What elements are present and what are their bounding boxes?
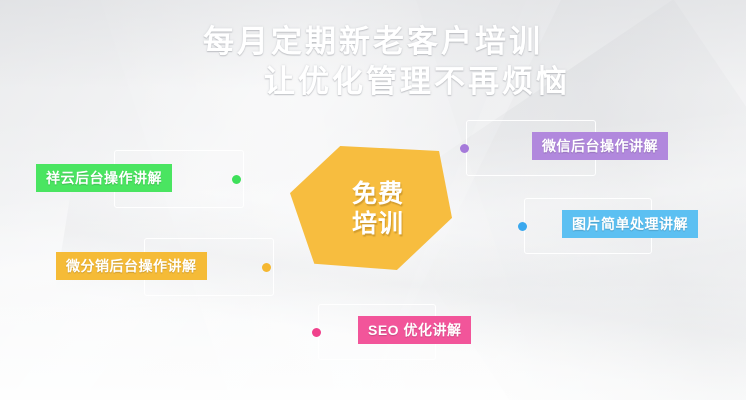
topic-chip-weifenxiao[interactable]: 微分销后台操作讲解 <box>56 252 207 280</box>
hexagon-label-line-1: 免费 <box>352 179 404 209</box>
connector-dot-icon <box>232 175 241 184</box>
topic-chip-seo[interactable]: SEO 优化讲解 <box>358 316 471 344</box>
headline-line-2: 让优化管理不再烦恼 <box>0 62 746 102</box>
connector-dot-icon <box>312 328 321 337</box>
topic-node-weifenxiao[interactable]: 微分销后台操作讲解 <box>56 238 274 296</box>
free-training-hexagon: 免费 培训 <box>290 146 452 270</box>
hexagon-label: 免费 培训 <box>290 146 452 270</box>
hexagon-label-line-2: 培训 <box>352 209 404 239</box>
topic-chip-tupian[interactable]: 图片简单处理讲解 <box>562 210 698 238</box>
headline: 每月定期新老客户培训 让优化管理不再烦恼 <box>0 22 746 102</box>
topic-node-xiangyun[interactable]: 祥云后台操作讲解 <box>36 150 246 208</box>
headline-line-1: 每月定期新老客户培训 <box>0 22 746 62</box>
connector-dot-icon <box>460 144 469 153</box>
topic-node-weixin[interactable]: 微信后台操作讲解 <box>460 120 675 176</box>
topic-chip-weixin[interactable]: 微信后台操作讲解 <box>532 132 668 160</box>
topic-node-seo[interactable]: SEO 优化讲解 <box>312 304 512 360</box>
connector-dot-icon <box>262 263 271 272</box>
topic-node-tupian[interactable]: 图片简单处理讲解 <box>518 198 714 254</box>
connector-dot-icon <box>518 222 527 231</box>
topic-chip-xiangyun[interactable]: 祥云后台操作讲解 <box>36 164 172 192</box>
promo-banner: 每月定期新老客户培训 让优化管理不再烦恼 免费 培训 祥云后台操作讲解 微分销后… <box>0 0 746 400</box>
